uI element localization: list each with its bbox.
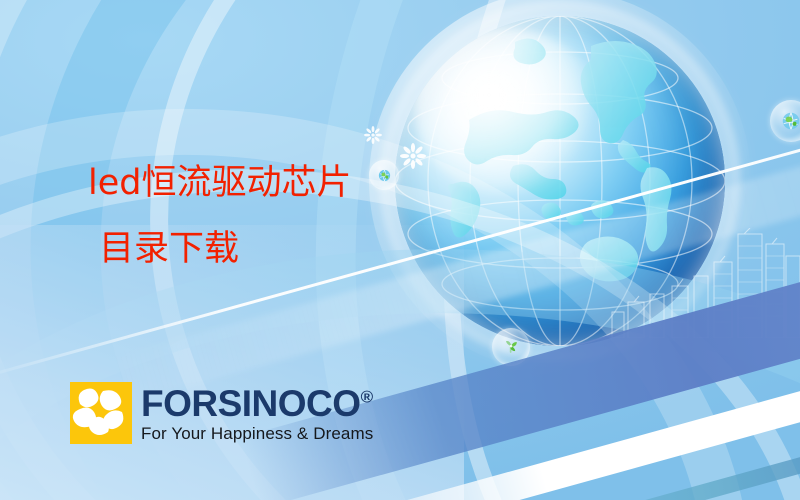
company-logo: FORSINOCO® For Your Happiness & Dreams <box>70 382 373 444</box>
bubble-globe-icon <box>369 160 399 190</box>
mini-globe-glyph <box>377 168 392 183</box>
headline-line-2: 目录下载 <box>88 232 351 267</box>
logo-text-block: FORSINOCO® For Your Happiness & Dreams <box>141 382 373 444</box>
pinwheel-glyph <box>70 382 132 444</box>
flower-asterisk-icon <box>400 143 426 169</box>
mini-globe-glyph <box>780 110 800 132</box>
brand-tagline: For Your Happiness & Dreams <box>141 425 373 444</box>
flower-asterisk-icon <box>364 126 382 144</box>
headline-line-1: led恒流驱动芯片 <box>88 166 351 201</box>
headline: led恒流驱动芯片 目录下载 <box>88 166 351 267</box>
pinwheel-flower-icon <box>70 382 132 444</box>
registered-mark: ® <box>361 388 373 407</box>
brand-name: FORSINOCO® <box>141 385 373 422</box>
slide-canvas: led恒流驱动芯片 目录下载 FORSINOCO® For Your Happi… <box>0 0 800 500</box>
brand-word: FORSINOCO <box>141 383 361 424</box>
mini-pinwheel-glyph <box>501 337 521 357</box>
